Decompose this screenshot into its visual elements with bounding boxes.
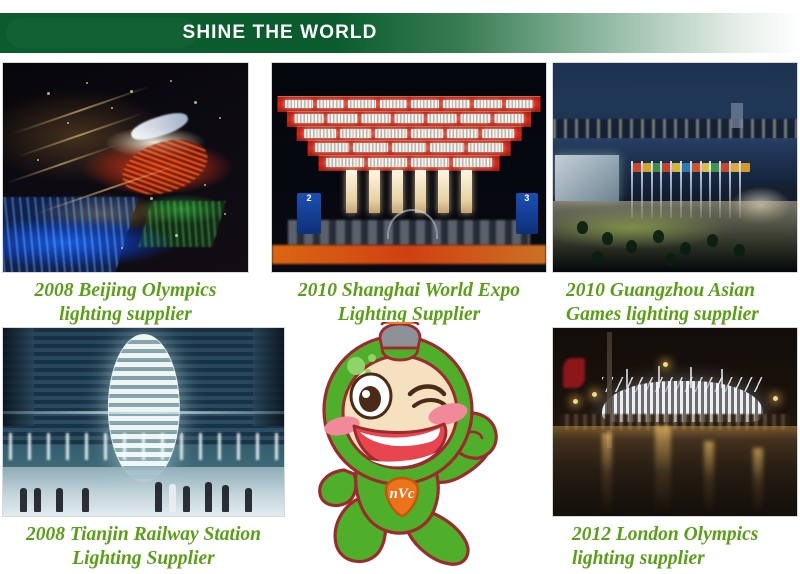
gallery-item-guangzhou-asian-games[interactable]: 2010 Guangzhou Asian Games lighting supp…: [552, 62, 798, 327]
caption-line-1: 2010 Shanghai World Expo: [271, 279, 547, 303]
mascot-hood-highlight: [368, 354, 376, 362]
caption-beijing-olympics: 2008 Beijing Olympics lighting supplier: [2, 279, 249, 327]
gallery-item-london-olympics[interactable]: 2012 London Olympics lighting supplier: [552, 327, 798, 571]
gallery-item-beijing-olympics[interactable]: 2008 Beijing Olympics lighting supplier: [2, 62, 249, 327]
caption-line-2: lighting supplier: [572, 547, 798, 571]
caption-line-1: 2010 Guangzhou Asian: [566, 279, 798, 303]
photo-london-olympics[interactable]: [552, 327, 798, 517]
concourse-ceiling-lights: [9, 433, 279, 459]
pavilion-lightbar-row-1: [283, 100, 535, 109]
photo-shanghai-world-expo[interactable]: 2 3: [271, 62, 547, 273]
banner-title: SHINE THE WORLD: [0, 13, 560, 53]
pavilion-lightbar-row-2: [293, 114, 526, 123]
caption-guangzhou-asian-games: 2010 Guangzhou Asian Games lighting supp…: [552, 279, 798, 327]
mascot-hood-highlight: [347, 357, 365, 375]
mascot-left-pupil: [359, 386, 381, 412]
distant-tower: [731, 103, 743, 128]
gallery-item-tianjin-railway-station[interactable]: 2008 Tianjin Railway Station Lighting Su…: [2, 327, 285, 571]
caption-shanghai-world-expo: 2010 Shanghai World Expo Lighting Suppli…: [271, 279, 547, 327]
mascot-left-arm: [320, 470, 356, 505]
concourse-floor: [3, 467, 284, 516]
gallery-item-shanghai-world-expo[interactable]: 2 3 2010 Shanghai World Expo Lighting Su…: [271, 62, 547, 327]
expo-tent-canopies: [288, 220, 529, 245]
photo-beijing-olympics[interactable]: [2, 62, 249, 273]
caption-line-2: Games lighting supplier: [566, 303, 798, 327]
pavilion-lightbar-row-4: [313, 143, 505, 152]
caption-london-olympics: 2012 London Olympics lighting supplier: [552, 523, 798, 571]
street-lamp: [573, 399, 578, 404]
caption-line-1: 2008 Beijing Olympics: [2, 279, 249, 303]
mascot-bulb-cap: [380, 324, 420, 348]
floodlight: [663, 362, 668, 367]
caption-line-1: 2008 Tianjin Railway Station: [2, 523, 285, 547]
street-lamp: [592, 392, 597, 397]
photo-guangzhou-asian-games[interactable]: [552, 62, 798, 273]
pavilion-lightbar-row-3: [302, 129, 516, 138]
illuminated-waterfront-building: [555, 155, 618, 201]
expo-ground-signage-glow: [272, 245, 546, 264]
caption-line-2: Lighting Supplier: [2, 547, 285, 571]
street-lamp: [773, 396, 778, 401]
pavilion-lightbar-row-5: [324, 158, 494, 167]
photo-tianjin-railway-station[interactable]: [2, 327, 285, 517]
caption-line-2: lighting supplier: [2, 303, 249, 327]
water-cube-lights: [2, 197, 139, 273]
structural-beam: [3, 411, 284, 414]
header-banner: SHINE THE WORLD: [0, 13, 800, 53]
mascot-bulb-base: [382, 348, 418, 360]
pavilion-columns: [346, 170, 472, 214]
caption-line-1: 2012 London Olympics: [572, 523, 798, 547]
green-field-lights: [139, 201, 226, 247]
distant-skyline: [553, 119, 797, 140]
expo-zone-sign-3: 3: [516, 193, 538, 235]
caption-tianjin-railway-station: 2008 Tianjin Railway Station Lighting Su…: [2, 523, 285, 571]
mascot-eye-glint: [362, 390, 370, 398]
mascot-bulb-filament: [382, 322, 418, 324]
red-banner-blur: [563, 358, 585, 388]
expo-zone-sign-2: 2: [297, 193, 322, 235]
mascot-badge-text: nVc: [389, 486, 414, 502]
oval-skylight-dome: [107, 334, 179, 483]
nvc-mascot: nVc: [298, 322, 503, 574]
